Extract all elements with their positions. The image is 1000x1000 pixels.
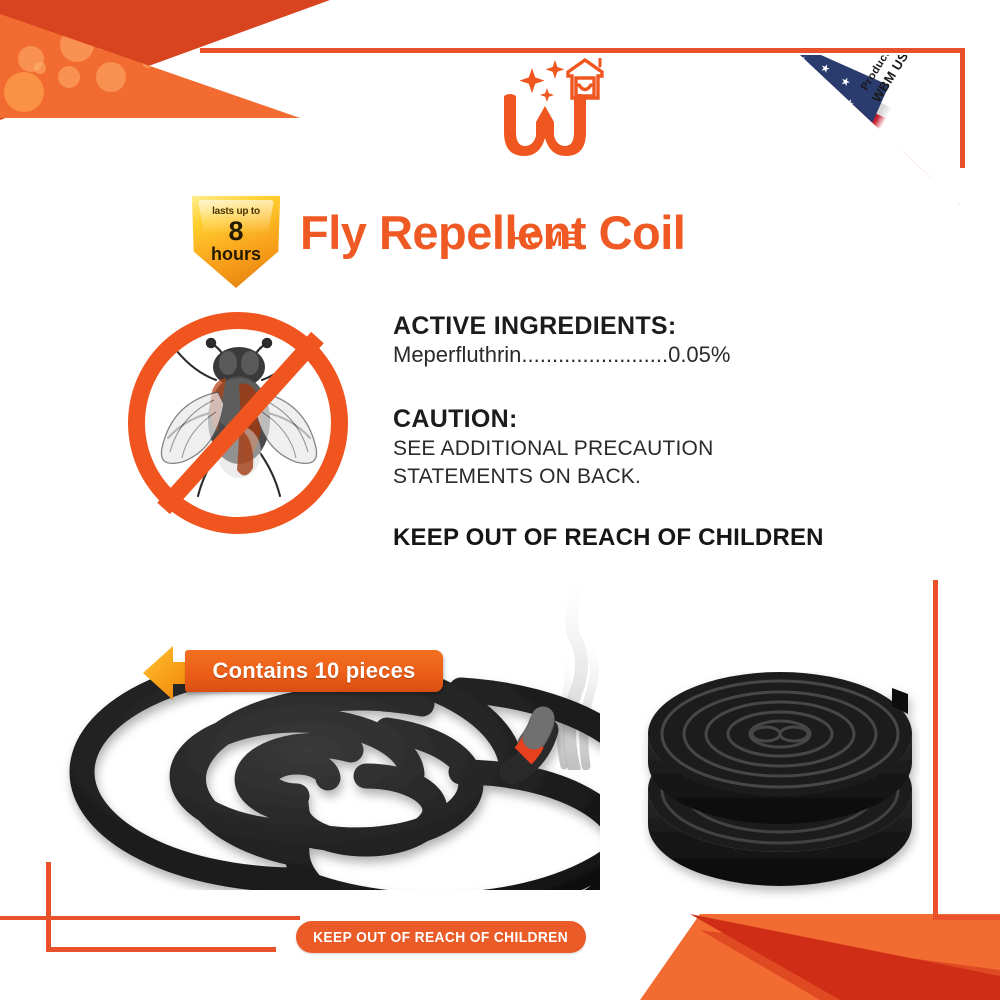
shield-value-hours: 8 [190,217,282,245]
active-ingredients-value: Meperfluthrin........................0.0… [393,342,730,368]
frame-line-bottom-right [933,915,1000,920]
keep-out-footer-badge: KEEP OUT OF REACH OF CHILDREN [296,921,586,953]
brand-logo: HOME [480,58,610,198]
frame-line-left-vertical [46,862,51,952]
wbm-home-house-sparkle-icon [480,58,610,163]
prohibition-ring [128,312,348,534]
caution-line-1: SEE ADDITIONAL PRECAUTION [393,437,713,461]
frame-line-right-bottom [933,580,938,920]
frame-line-right-top [960,48,965,168]
usa-flag-ribbon: ★ ★ ★ ★ ★ ★ ★ ★ ★ Product of WBM USA [800,55,960,205]
keep-out-footer-text: KEEP OUT OF REACH OF CHILDREN [313,929,568,946]
contains-pieces-banner: Contains 10 pieces [143,650,443,694]
frame-line-bottom-mid [0,916,300,920]
product-title: Fly Repellent Coil [300,205,860,260]
decorative-bubble [4,72,44,112]
frame-line-left-horizontal [46,947,276,952]
decorative-bubble [96,62,126,92]
product-label-page: ★ ★ ★ ★ ★ ★ ★ ★ ★ Product of WBM USA [0,0,1000,1000]
decorative-bubble [58,66,80,88]
caution-heading: CAUTION: [393,405,518,434]
active-ingredients-heading: ACTIVE INGREDIENTS: [393,312,677,341]
keep-out-of-reach-heading: KEEP OUT OF REACH OF CHILDREN [393,524,824,552]
duration-shield-badge: lasts up to 8 hours [190,192,282,288]
contains-pieces-text: Contains 10 pieces [185,650,443,692]
caution-line-2: STATEMENTS ON BACK. [393,465,641,489]
decorative-bubble [34,62,46,74]
frame-line-top [200,48,965,53]
burning-spiral-coil-image [60,660,600,890]
stacked-double-spiral-coils-image [640,672,920,902]
shield-unit-hours: hours [190,244,282,265]
no-fly-prohibition-icon [128,312,348,534]
